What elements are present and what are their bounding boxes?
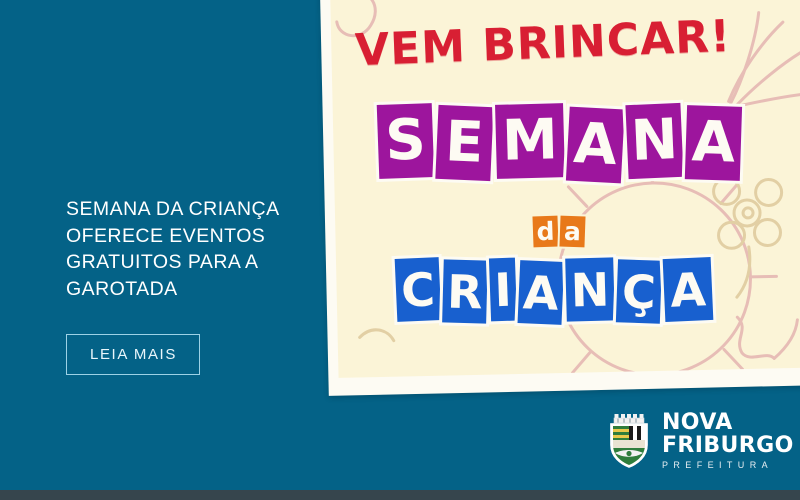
letter-block: S — [377, 103, 435, 179]
logo-line-2: FRIBURGO — [662, 435, 794, 457]
letter-block: A — [685, 105, 742, 181]
letter-block: I — [489, 258, 517, 322]
letter-block: E — [435, 105, 493, 181]
letter-block: N — [565, 257, 615, 321]
letter-block: N — [625, 103, 683, 179]
coat-of-arms-icon — [605, 413, 653, 469]
word-da: d a — [533, 216, 587, 247]
bottom-bar — [0, 490, 800, 500]
banner-kicker: VEM BRINCAR! — [354, 11, 732, 76]
letter-block: C — [395, 257, 442, 322]
letter-block: A — [663, 257, 714, 322]
cta-wrapper: LEIA MAIS — [66, 334, 286, 375]
letter-block: A — [566, 107, 625, 184]
letter-block: R — [442, 259, 488, 323]
letter-block: d — [532, 216, 558, 248]
word-crianca: C R I A N Ç A — [396, 258, 715, 321]
logo-line-3: PREFEITURA — [662, 461, 794, 470]
page-title: SEMANA DA CRIANÇA OFERECE EVENTOS GRATUI… — [66, 196, 286, 302]
read-more-button[interactable]: LEIA MAIS — [66, 334, 200, 375]
prefeitura-logo[interactable]: NOVA FRIBURGO PREFEITURA — [605, 412, 794, 470]
logo-text: NOVA FRIBURGO PREFEITURA — [662, 412, 794, 470]
letter-block: Ç — [616, 259, 662, 323]
letter-block: a — [559, 216, 585, 248]
word-semana: S E M A N A — [378, 104, 745, 178]
text-column: SEMANA DA CRIANÇA OFERECE EVENTOS GRATUI… — [66, 196, 286, 375]
banner-stage: VEM BRINCAR! S E M A N A d a C R I A N Ç… — [0, 0, 800, 500]
letter-block: M — [495, 103, 565, 179]
letter-block: A — [518, 260, 565, 325]
logo-line-1: NOVA — [662, 412, 794, 434]
